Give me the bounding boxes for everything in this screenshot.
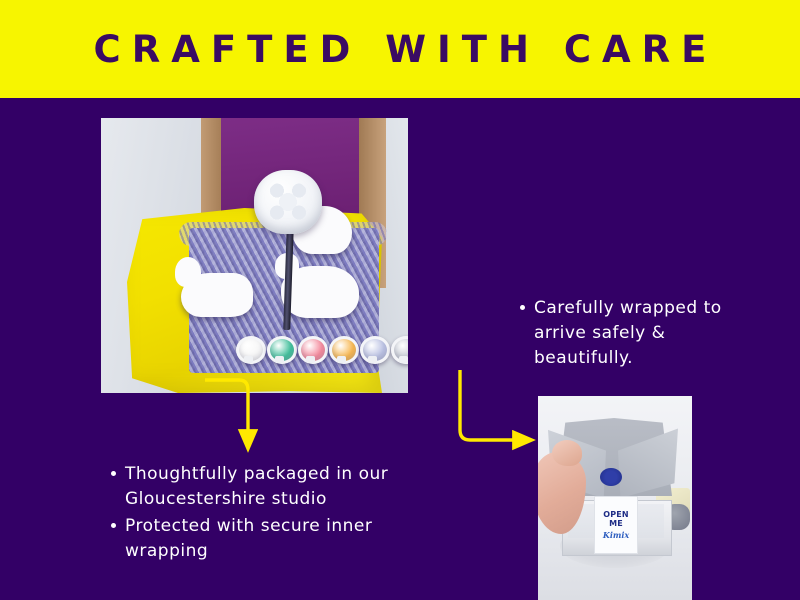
inset-unboxing-photo: OPEN ME Kimix	[538, 396, 692, 600]
page-title: CRAFTED WITH CARE	[83, 28, 718, 71]
paint-palette	[254, 170, 322, 234]
left-bullet-block: Thoughtfully packaged in our Gloucesters…	[110, 462, 410, 566]
paint-pot-tab-green	[275, 356, 284, 363]
hand-thumb	[552, 440, 582, 466]
dinosaur-cutout-bottom-right	[281, 266, 359, 318]
brand-logo-icon	[600, 468, 622, 486]
list-item: Thoughtfully packaged in our Gloucesters…	[110, 462, 410, 512]
header-band: CRAFTED WITH CARE	[0, 0, 800, 98]
dinosaur-cutout-left	[181, 273, 253, 317]
open-me-line-1: OPEN	[603, 511, 629, 520]
brand-name-script: Kimix	[603, 530, 629, 540]
left-bullet-list: Thoughtfully packaged in our Gloucesters…	[110, 462, 410, 564]
main-product-photo	[101, 118, 408, 393]
paint-pot-tab-white	[244, 356, 253, 363]
list-item: Protected with secure inner wrapping	[110, 514, 410, 564]
paint-pot-tab-silver	[399, 356, 408, 363]
open-me-card: OPEN ME Kimix	[594, 496, 638, 554]
paint-pot-tab-lavender	[368, 356, 377, 363]
right-bullet-block: Carefully wrapped to arrive safely & bea…	[519, 296, 729, 373]
paint-pot-tab-orange	[337, 356, 346, 363]
list-item: Carefully wrapped to arrive safely & bea…	[519, 296, 729, 371]
right-bullet-list: Carefully wrapped to arrive safely & bea…	[519, 296, 729, 371]
paint-pot-tab-pink	[306, 356, 315, 363]
open-me-line-2: ME	[609, 520, 623, 529]
arrow-to-inset-photo	[460, 370, 523, 440]
slide-canvas: CRAFTED WITH CARE Carefully wra	[0, 0, 800, 600]
